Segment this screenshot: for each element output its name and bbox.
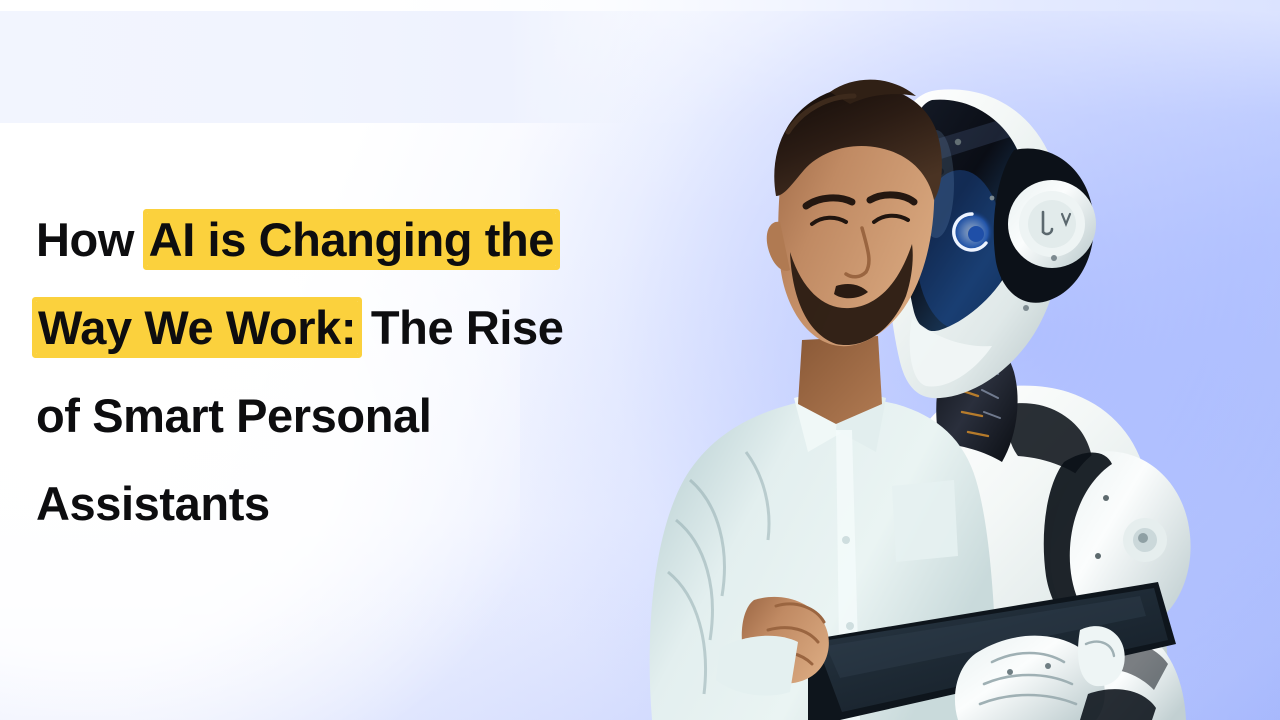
headline-line-1-highlight: AI is Changing the [147,213,556,266]
page-title: How AI is Changing theWay We Work: The R… [36,196,656,548]
robot-eye-icon [950,210,994,254]
robot-ear-module [994,148,1096,311]
headline-line-1-plain: How [36,213,147,266]
headline-line-4: Assistants [36,477,270,530]
hero-banner: How AI is Changing theWay We Work: The R… [0,0,1280,720]
headline-line-3: of Smart Personal [36,389,431,442]
headline-line-2-highlight: Way We Work: [36,301,358,354]
man-figure [650,80,1176,720]
headline-line-2-plain: The Rise [358,301,563,354]
man-shirt-pocket [892,480,958,562]
